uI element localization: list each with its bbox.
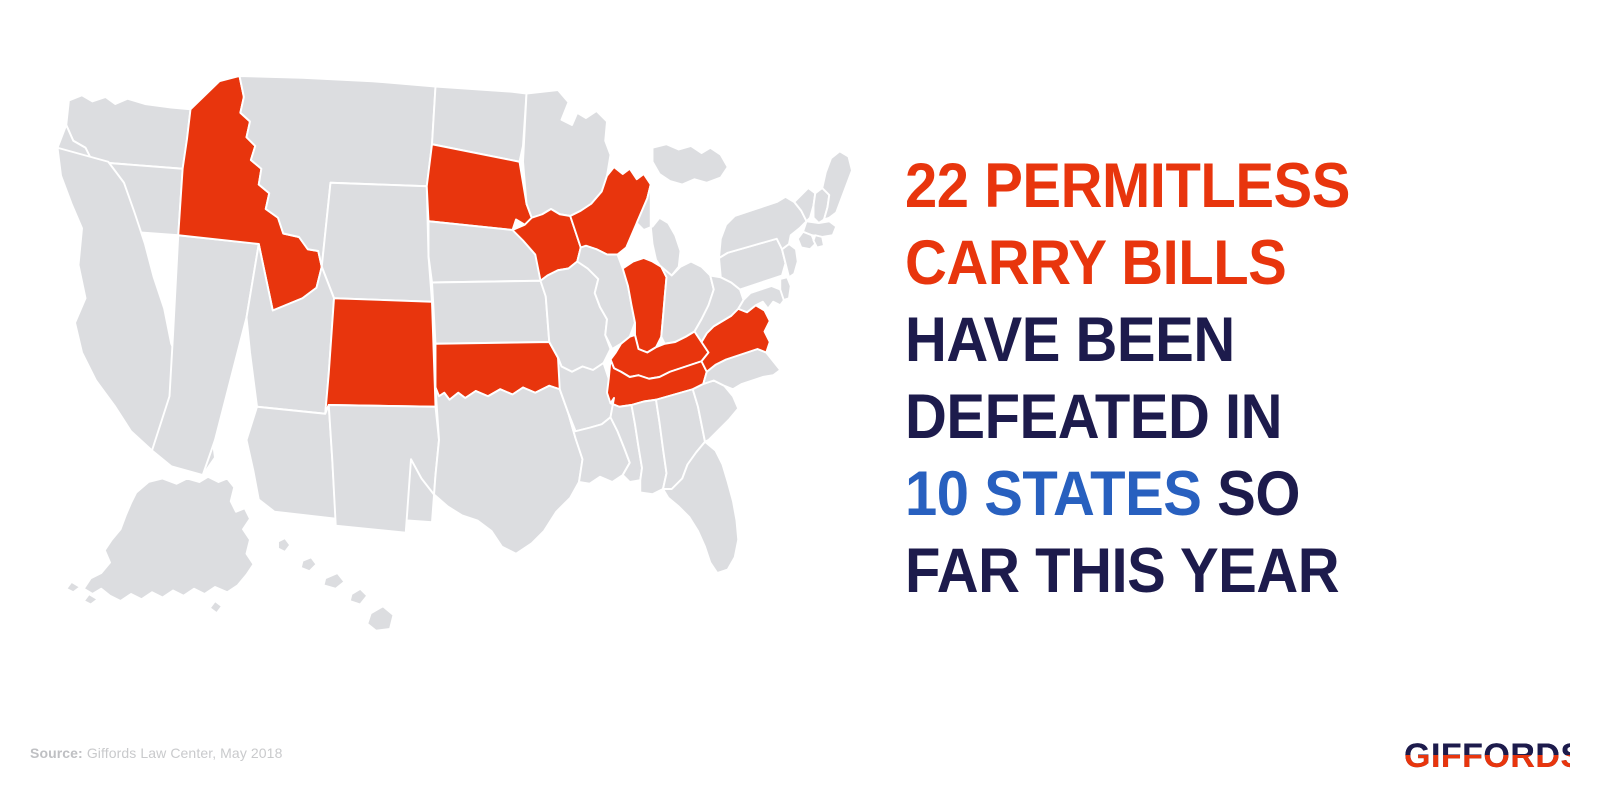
source-label: Source: [30, 745, 83, 761]
state-wyoming [322, 183, 432, 302]
headline-block: 22 PERMITLESS CARRY BILLS HAVE BEEN DEFE… [905, 148, 1505, 610]
headline-line-5: 10 STATES SO [905, 456, 1457, 533]
state-arizona [247, 405, 336, 519]
state-delaware [780, 277, 791, 300]
giffords-logo[interactable]: GIFFORDS GIFFORDS GIFFORDS GIFFORDS [1404, 735, 1570, 775]
headline-seg-defeated-in: DEFEATED IN [905, 382, 1282, 452]
logo-accent-blocks [1406, 755, 1422, 771]
us-map-svg [40, 60, 880, 680]
state-rhode-island [814, 235, 825, 247]
headline-seg-have-been: HAVE BEEN [905, 305, 1235, 375]
headline-seg-bills-count: 22 PERMITLESS [905, 151, 1350, 221]
headline-seg-states-count: 10 STATES [905, 459, 1201, 529]
headline-seg-carry-bills: CARRY BILLS [905, 228, 1286, 298]
headline-line-6: FAR THIS YEAR [905, 533, 1457, 610]
state-new-jersey [782, 244, 798, 277]
headline-line-4: DEFEATED IN [905, 379, 1457, 456]
headline-seg-far-this-year: FAR THIS YEAR [905, 536, 1339, 606]
headline-seg-so: SO [1201, 459, 1299, 529]
us-choropleth-map [40, 60, 880, 680]
state-michigan [637, 144, 728, 275]
giffords-logo-svg: GIFFORDS GIFFORDS GIFFORDS GIFFORDS [1404, 735, 1570, 775]
headline-line-3: HAVE BEEN [905, 302, 1457, 379]
state-maine [822, 151, 852, 219]
headline-line-1: 22 PERMITLESS [905, 148, 1457, 225]
state-hawaii [278, 538, 394, 631]
state-alaska [66, 477, 253, 614]
source-attribution: Source: Giffords Law Center, May 2018 [30, 745, 282, 761]
infographic-canvas: 22 PERMITLESS CARRY BILLS HAVE BEEN DEFE… [0, 0, 1600, 800]
state-kansas [432, 281, 549, 344]
source-text: Giffords Law Center, May 2018 [83, 745, 283, 761]
state-colorado [325, 298, 435, 414]
headline-line-2: CARRY BILLS [905, 225, 1457, 302]
